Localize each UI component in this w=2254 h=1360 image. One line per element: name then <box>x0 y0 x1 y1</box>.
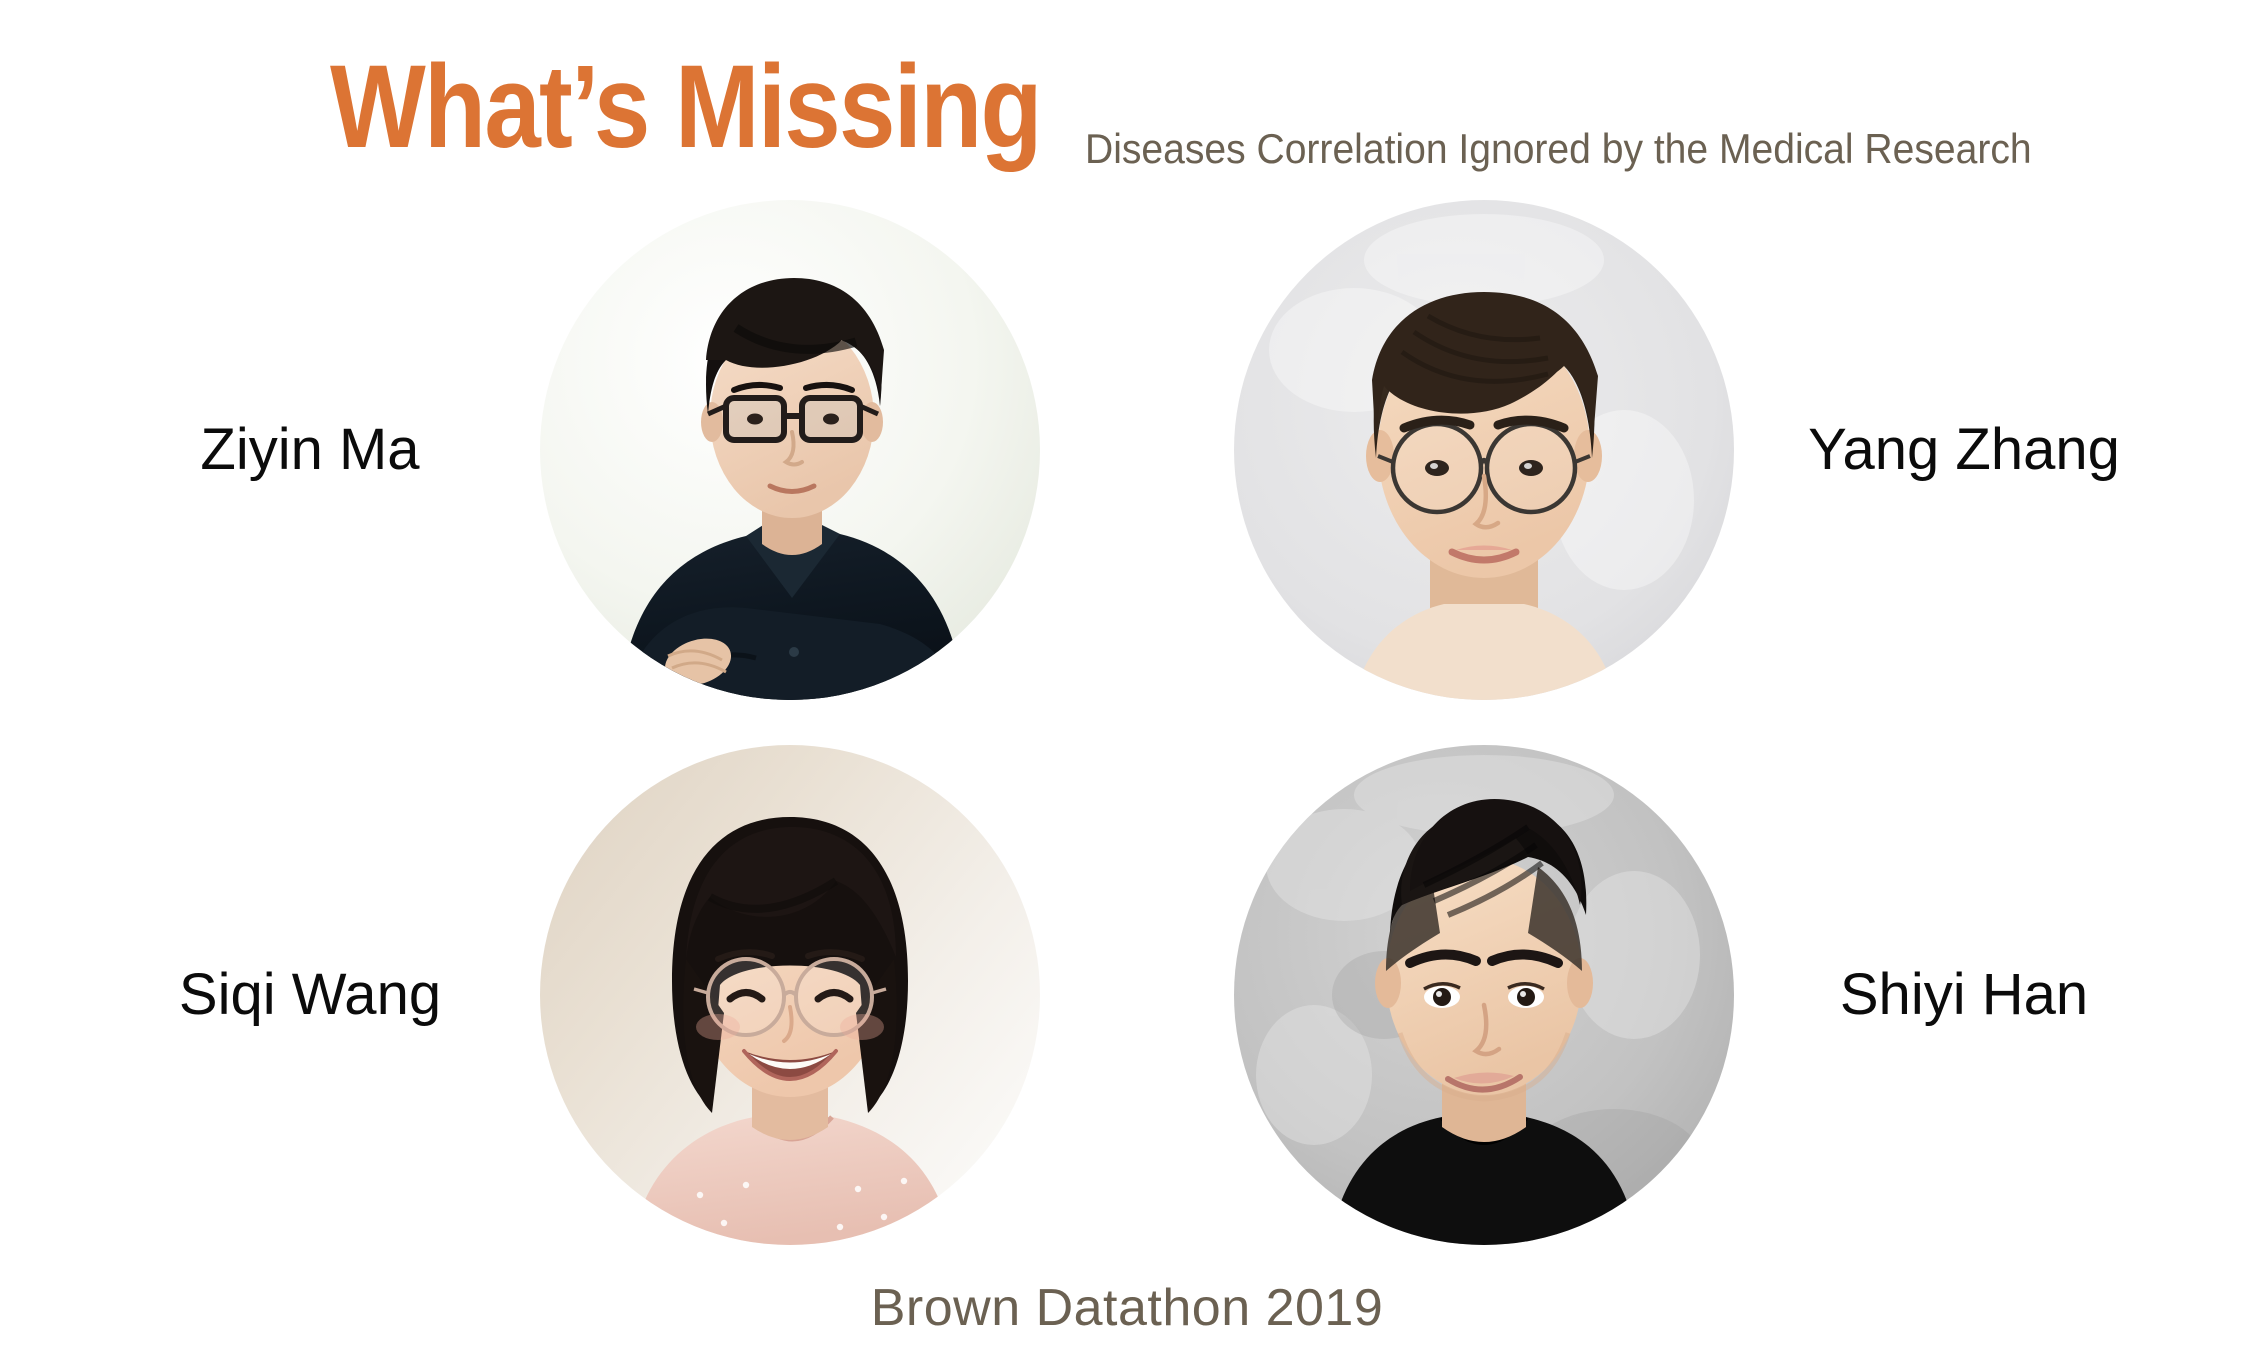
team-member-yang-zhang: Yang Zhang <box>1234 200 2174 700</box>
member-name-label: Ziyin Ma <box>100 421 520 479</box>
team-grid: Ziyin Ma <box>0 0 2254 1360</box>
team-member-ziyin-ma: Ziyin Ma <box>100 200 1040 700</box>
avatar-ziyin-ma <box>540 200 1040 700</box>
avatar-siqi-wang <box>540 745 1040 1245</box>
team-member-shiyi-han: Shiyi Han <box>1234 745 2174 1245</box>
slide-footer: Brown Datathon 2019 <box>0 1278 2254 1338</box>
member-name-label: Siqi Wang <box>100 966 520 1024</box>
member-name-label: Shiyi Han <box>1754 966 2174 1024</box>
team-member-siqi-wang: Siqi Wang <box>100 745 1040 1245</box>
avatar-shiyi-han <box>1234 745 1734 1245</box>
member-name-label: Yang Zhang <box>1754 421 2174 479</box>
avatar-yang-zhang <box>1234 200 1734 700</box>
presentation-slide: What’s Missing Diseases Correlation Igno… <box>0 0 2254 1360</box>
